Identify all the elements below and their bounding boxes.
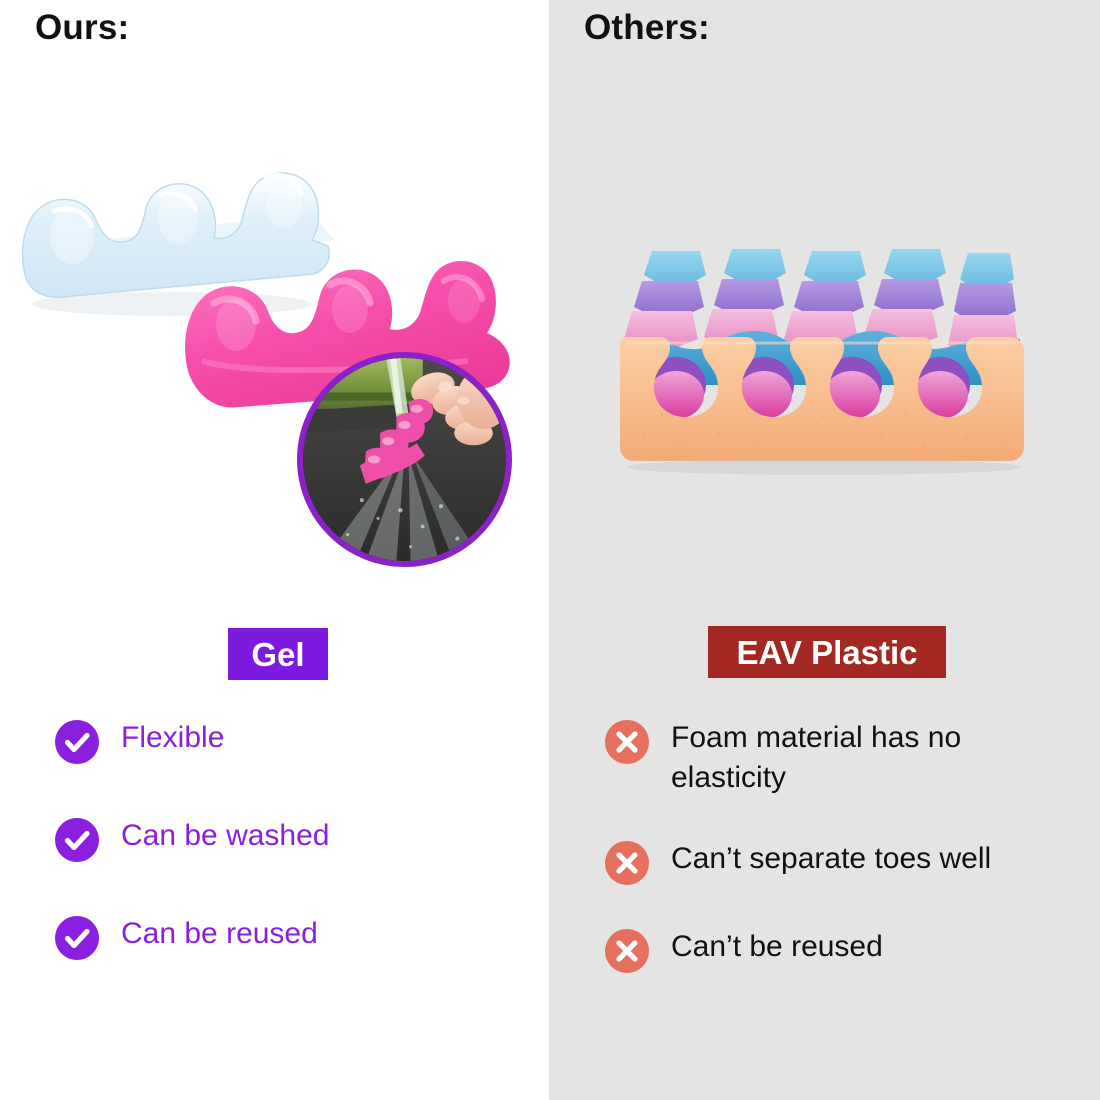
washing-gel-separator-photo (297, 352, 512, 567)
material-badge-gel: Gel (228, 628, 328, 680)
foam-toe-separator-stack (614, 235, 1034, 475)
list-item-label: Can’t be reused (671, 927, 883, 967)
list-item-label: Can’t separate toes well (671, 839, 991, 879)
check-circle-icon (55, 818, 99, 862)
x-circle-icon (605, 841, 649, 885)
x-circle-icon (605, 720, 649, 764)
list-item-label: Can be reused (121, 914, 318, 954)
gel-product-illustration (0, 80, 549, 600)
list-item: Can’t separate toes well (605, 839, 1065, 885)
list-item: Foam material has no elasticity (605, 718, 1065, 797)
list-item: Can’t be reused (605, 927, 1065, 973)
page-title-others: Others: (584, 8, 710, 48)
material-badge-eav-plastic: EAV Plastic (708, 626, 946, 678)
x-circle-icon (605, 929, 649, 973)
page-title-ours: Ours: (35, 8, 129, 48)
check-circle-icon (55, 916, 99, 960)
list-item: Can be reused (55, 914, 495, 960)
cons-list: Foam material has no elasticity Can’t se… (605, 718, 1065, 1015)
check-circle-icon (55, 720, 99, 764)
foam-product-illustration (549, 80, 1100, 600)
list-item: Can be washed (55, 816, 495, 862)
list-item-label: Flexible (121, 718, 224, 758)
pros-list: Flexible Can be washed Can be reused (55, 718, 495, 1012)
list-item-label: Foam material has no elasticity (671, 718, 1065, 797)
list-item-label: Can be washed (121, 816, 329, 856)
list-item: Flexible (55, 718, 495, 764)
comparison-infographic: Ours: Others: Gel EAV Plastic Flexible C… (0, 0, 1100, 1100)
